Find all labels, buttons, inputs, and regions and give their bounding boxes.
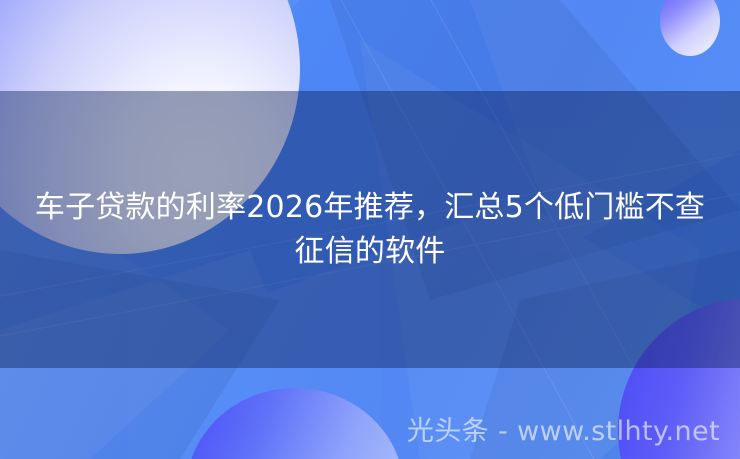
promo-banner: 车子贷款的利率2026年推荐，汇总5个低门槛不查征信的软件 光头条 - www.… bbox=[0, 0, 740, 459]
headline-container: 车子贷款的利率2026年推荐，汇总5个低门槛不查征信的软件 bbox=[0, 91, 740, 368]
page-title: 车子贷款的利率2026年推荐，汇总5个低门槛不查征信的软件 bbox=[28, 186, 712, 274]
site-watermark: 光头条 - www.stlhty.net bbox=[407, 418, 720, 445]
